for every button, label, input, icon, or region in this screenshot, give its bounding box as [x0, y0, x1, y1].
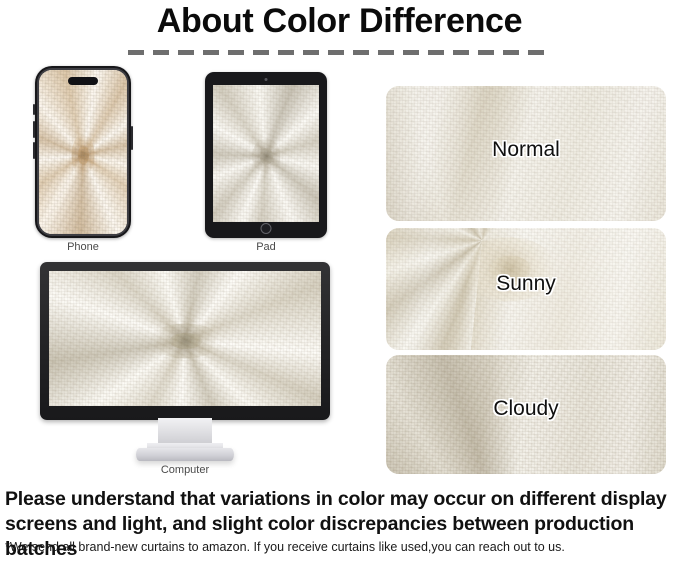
phone-screen: [39, 70, 127, 234]
title-divider: [128, 50, 552, 55]
phone-power-button: [131, 126, 133, 150]
lighting-panel-sunny: Sunny: [386, 228, 666, 350]
phone-volume-up-button: [33, 121, 35, 138]
fabric-swatch-computer: [49, 271, 321, 406]
monitor-screen: [49, 271, 321, 406]
pad-screen: [213, 85, 319, 222]
disclaimer-footnote: *We send all brand-new curtains to amazo…: [5, 539, 677, 555]
lighting-panel-normal: Normal: [386, 86, 666, 221]
monitor-bezel: [40, 262, 330, 420]
device-label-pad: Pad: [205, 241, 327, 253]
lighting-panel-cloudy: Cloudy: [386, 355, 666, 474]
device-label-computer: Computer: [40, 464, 330, 476]
phone-mute-switch: [33, 104, 35, 115]
phone-dynamic-island: [68, 77, 98, 85]
device-mockup-computer: [40, 262, 330, 467]
page-title: About Color Difference: [0, 2, 679, 41]
phone-volume-down-button: [33, 142, 35, 159]
pad-camera-icon: [265, 78, 268, 81]
lighting-label-sunny: Sunny: [386, 272, 666, 296]
phone-body: [35, 66, 131, 238]
pad-body: [205, 72, 327, 238]
device-mockup-pad: [205, 72, 327, 238]
device-mockup-phone: [35, 66, 131, 238]
monitor-stand-base: [136, 448, 234, 461]
lighting-label-normal: Normal: [386, 138, 666, 162]
device-label-phone: Phone: [35, 241, 131, 253]
lighting-label-cloudy: Cloudy: [386, 397, 666, 421]
fabric-swatch-pad: [213, 85, 319, 222]
disclaimer-line-1: Please understand that variations in col…: [5, 487, 677, 512]
fabric-swatch-phone: [39, 70, 127, 234]
pad-home-button: [261, 223, 272, 234]
